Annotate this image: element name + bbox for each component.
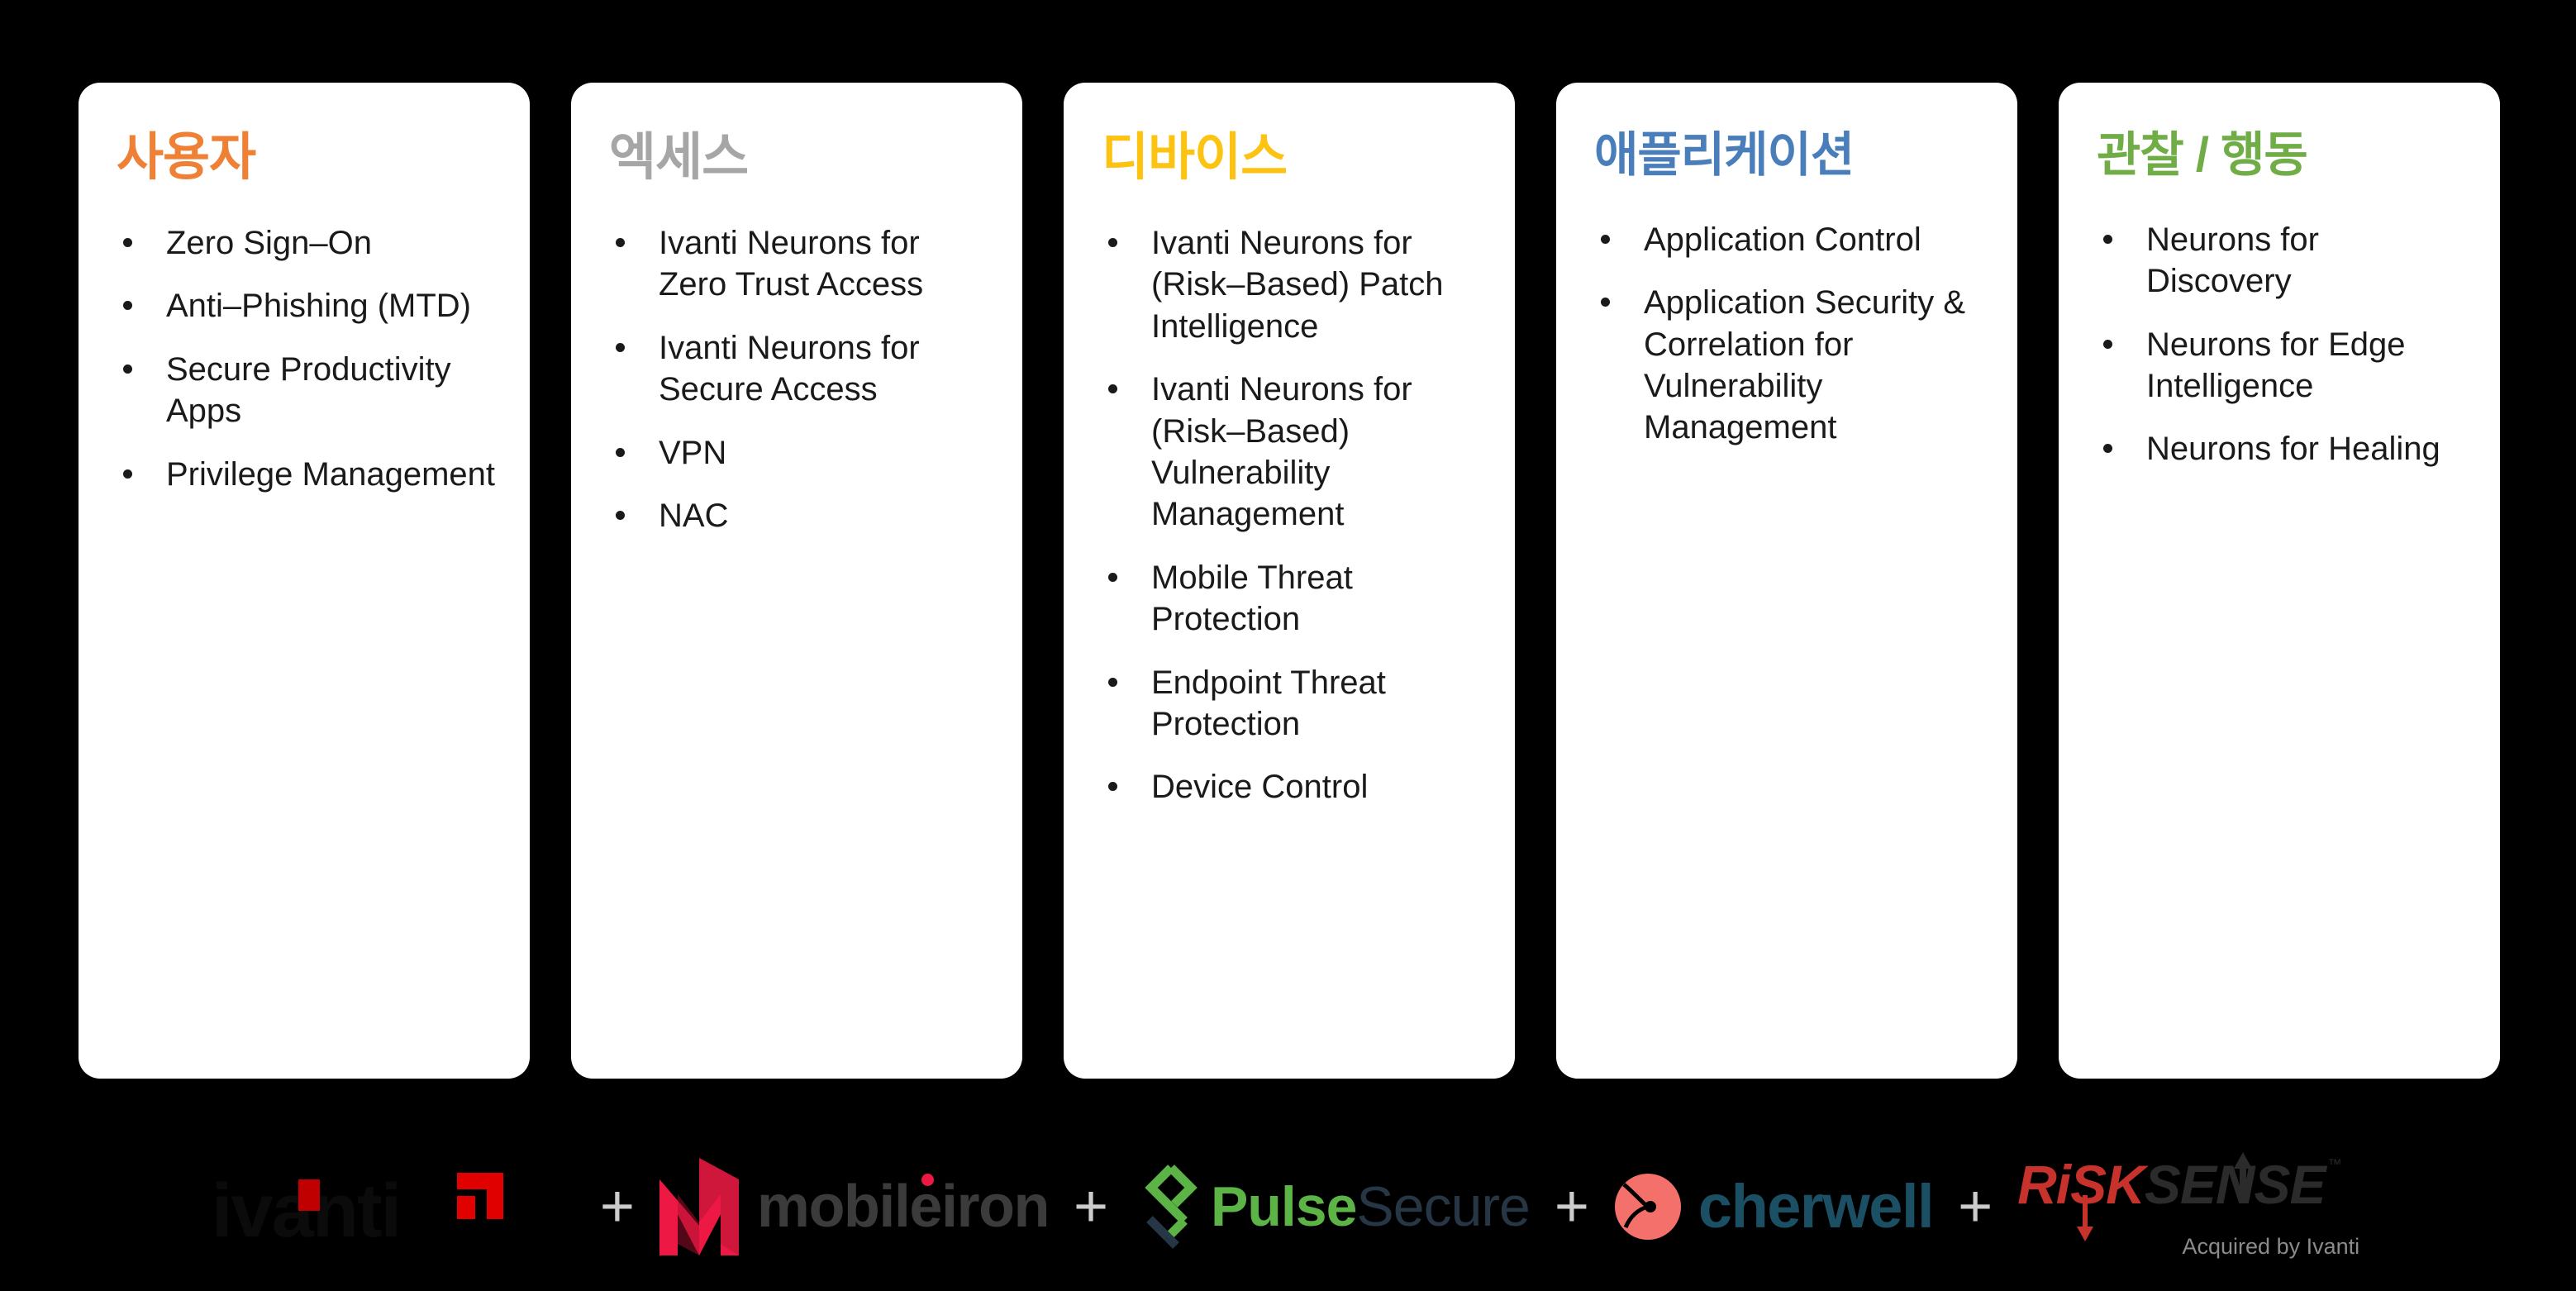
card-bullet-list: Neurons for Discovery Neurons for Edge I…	[2097, 219, 2469, 470]
mobileiron-i-dot-icon	[921, 1174, 934, 1186]
mobileiron-m-mark-icon	[659, 1158, 739, 1255]
pulse-secure-logo: PulseSecure	[1133, 1161, 1530, 1252]
list-item: Endpoint Threat Protection	[1102, 662, 1483, 746]
slide-root: 사용자 Zero Sign–On Anti–Phishing (MTD) Sec…	[0, 0, 2576, 1291]
list-item: Zero Sign–On	[117, 222, 498, 264]
card-title: 애플리케이션	[1594, 131, 1986, 181]
logo-slot-risksense: RiSKSENSE™ Acquired by Ivanti	[2017, 1145, 2364, 1269]
list-item: Secure Productivity Apps	[117, 349, 498, 432]
pulse-secure-s-mark-icon	[1133, 1161, 1198, 1252]
bullet-dot-icon	[1108, 384, 1117, 393]
card-bullet-list: Zero Sign–On Anti–Phishing (MTD) Secure …	[117, 222, 498, 495]
cherwell-wordmark: cherwell	[1698, 1176, 1933, 1237]
bullet-dot-icon	[123, 364, 132, 374]
bullet-dot-icon	[2103, 235, 2112, 244]
risksense-logo: RiSKSENSE™ Acquired by Ivanti	[2017, 1157, 2364, 1256]
list-item: Anti–Phishing (MTD)	[117, 285, 498, 326]
pulse-word: Pulse	[1211, 1175, 1356, 1238]
partner-logo-bar: ivanti + mobileiron	[0, 1132, 2576, 1281]
category-card-user[interactable]: 사용자 Zero Sign–On Anti–Phishing (MTD) Sec…	[79, 83, 530, 1079]
mobileiron-logo: mobileiron	[659, 1158, 1049, 1255]
list-item: Neurons for Discovery	[2097, 219, 2469, 303]
list-item-label: Ivanti Neurons for (Risk–Based) Vulnerab…	[1151, 371, 1412, 532]
logo-slot-mobileiron: mobileiron	[659, 1145, 1049, 1269]
list-item-label: Neurons for Edge Intelligence	[2146, 326, 2406, 404]
bullet-dot-icon	[123, 238, 132, 247]
list-item-label: Anti–Phishing (MTD)	[166, 288, 471, 324]
card-bullet-list: Application Control Application Security…	[1594, 219, 1986, 449]
plus-separator-3: +	[1530, 1177, 1614, 1236]
mobileiron-wordmark-wrap: mobileiron	[757, 1177, 1049, 1236]
list-item-label: NAC	[659, 498, 728, 534]
list-item-label: Ivanti Neurons for (Risk–Based) Patch In…	[1151, 225, 1443, 345]
risksense-wordmark: RiSKSENSE™	[2017, 1157, 2364, 1212]
category-card-device[interactable]: 디바이스 Ivanti Neurons for (Risk–Based) Pat…	[1064, 83, 1515, 1079]
card-title: 디바이스	[1102, 131, 1483, 184]
plus-separator-4: +	[1933, 1177, 2017, 1236]
plus-separator-1: +	[575, 1177, 659, 1236]
card-title: 관찰 / 행동	[2097, 131, 2469, 181]
ivanti-i-dot-icon	[298, 1179, 320, 1211]
cherwell-circle-mark-icon	[1614, 1173, 1682, 1241]
category-card-deck: 사용자 Zero Sign–On Anti–Phishing (MTD) Sec…	[79, 83, 2500, 1079]
bullet-dot-icon	[1601, 298, 1610, 307]
pulse-secure-wordmark: PulseSecure	[1211, 1179, 1530, 1235]
list-item-label: Device Control	[1151, 769, 1368, 805]
list-item: Ivanti Neurons for (Risk–Based) Vulnerab…	[1102, 369, 1483, 536]
list-item: Neurons for Healing	[2097, 428, 2469, 469]
list-item: Mobile Threat Protection	[1102, 557, 1483, 641]
list-item: Device Control	[1102, 766, 1483, 807]
bullet-dot-icon	[616, 238, 625, 247]
ivanti-corner-mark-icon	[457, 1173, 503, 1219]
list-item-label: Application Control	[1644, 222, 1921, 258]
list-item: VPN	[609, 432, 991, 474]
bullet-dot-icon	[616, 448, 625, 457]
list-item-label: Secure Productivity Apps	[166, 351, 451, 429]
bullet-dot-icon	[1108, 573, 1117, 582]
category-card-application[interactable]: 애플리케이션 Application Control Application S…	[1556, 83, 2017, 1079]
bullet-dot-icon	[123, 469, 132, 479]
logo-slot-pulse-secure: PulseSecure	[1133, 1145, 1530, 1269]
list-item-label: Ivanti Neurons for Secure Access	[659, 330, 920, 407]
list-item: NAC	[609, 495, 991, 536]
arrow-down-icon	[2077, 1195, 2093, 1241]
card-title: 사용자	[117, 131, 498, 184]
list-item: Neurons for Edge Intelligence	[2097, 324, 2469, 407]
list-item: Ivanti Neurons for Secure Access	[609, 327, 991, 411]
list-item-label: Neurons for Healing	[2146, 431, 2440, 467]
card-title: 엑세스	[609, 131, 991, 184]
list-item: Application Security & Correlation for V…	[1594, 282, 1986, 449]
card-bullet-list: Ivanti Neurons for (Risk–Based) Patch In…	[1102, 222, 1483, 808]
mobileiron-wordmark: mobileiron	[757, 1174, 1049, 1240]
bullet-dot-icon	[2103, 444, 2112, 453]
list-item-label: Endpoint Threat Protection	[1151, 665, 1386, 742]
bullet-dot-icon	[616, 343, 625, 352]
list-item: Ivanti Neurons for (Risk–Based) Patch In…	[1102, 222, 1483, 347]
plus-separator-2: +	[1049, 1177, 1133, 1236]
trademark-symbol: ™	[2328, 1157, 2342, 1171]
card-bullet-list: Ivanti Neurons for Zero Trust Access Iva…	[609, 222, 991, 536]
category-card-observe-act[interactable]: 관찰 / 행동 Neurons for Discovery Neurons fo…	[2059, 83, 2500, 1079]
bullet-dot-icon	[2103, 340, 2112, 349]
category-card-access[interactable]: 엑세스 Ivanti Neurons for Zero Trust Access…	[571, 83, 1022, 1079]
bullet-dot-icon	[1108, 238, 1117, 247]
risksense-tagline: Acquired by Ivanti	[2183, 1234, 2360, 1260]
cherwell-logo: cherwell	[1614, 1173, 1933, 1241]
secure-word: Secure	[1356, 1175, 1529, 1238]
list-item: Privilege Management	[117, 454, 498, 495]
list-item: Application Control	[1594, 219, 1986, 260]
list-item: Ivanti Neurons for Zero Trust Access	[609, 222, 991, 306]
logo-slot-cherwell: cherwell	[1614, 1145, 1933, 1269]
bullet-dot-icon	[1108, 678, 1117, 687]
list-item-label: VPN	[659, 435, 726, 471]
ivanti-logo: ivanti	[212, 1161, 575, 1252]
list-item-label: Ivanti Neurons for Zero Trust Access	[659, 225, 923, 303]
arrow-up-icon	[2234, 1152, 2252, 1202]
list-item-label: Zero Sign–On	[166, 225, 372, 261]
list-item-label: Privilege Management	[166, 456, 495, 493]
bullet-dot-icon	[616, 511, 625, 520]
bullet-dot-icon	[1601, 235, 1610, 244]
list-item-label: Mobile Threat Protection	[1151, 560, 1353, 637]
bullet-dot-icon	[123, 301, 132, 310]
list-item-label: Application Security & Correlation for V…	[1644, 284, 1965, 445]
bullet-dot-icon	[1108, 782, 1117, 791]
logo-slot-ivanti: ivanti	[212, 1145, 575, 1269]
list-item-label: Neurons for Discovery	[2146, 222, 2319, 299]
